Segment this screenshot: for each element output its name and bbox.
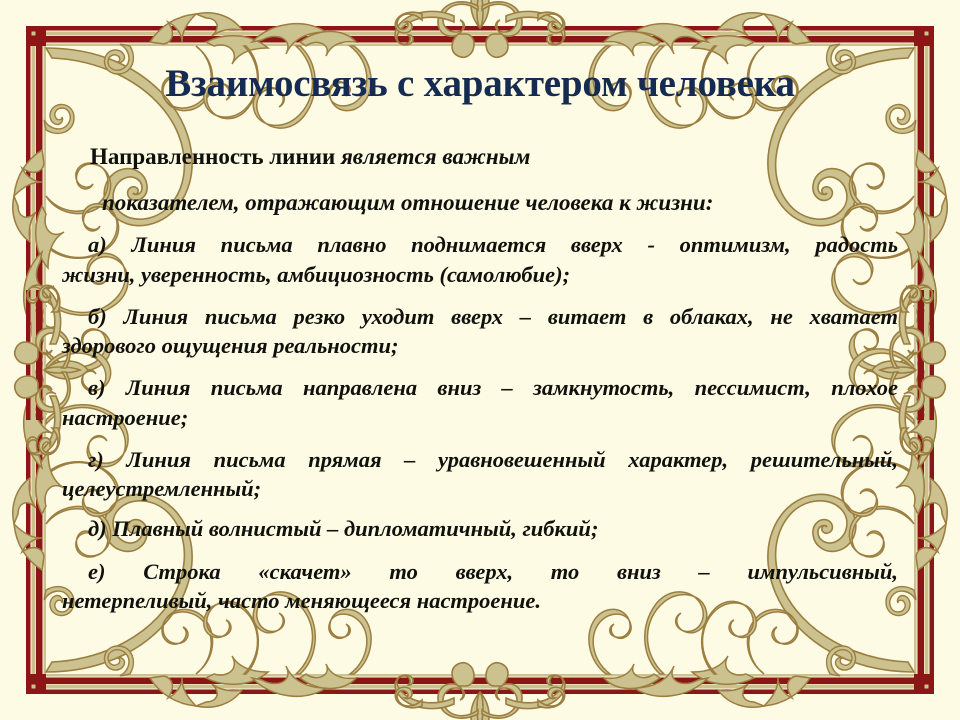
list-item-line: целеустремленный;: [62, 474, 898, 503]
slide: Взаимосвязь с характером человека Направ…: [0, 0, 960, 720]
list-item-line: г) Линия письма прямая – уравновешенный …: [62, 445, 898, 474]
list-item-line: здорового ощущения реальности;: [62, 331, 898, 360]
edge-ornament-bottom: [395, 663, 565, 720]
list-item-line: настроение;: [62, 403, 898, 432]
list-item: е) Строка «скачет» то вверх, то вниз – и…: [62, 557, 898, 616]
list-item: г) Линия письма прямая – уравновешенный …: [62, 445, 898, 504]
lead-line-2: показателем, отражающим отношение челове…: [62, 188, 898, 218]
list-item-line: в) Линия письма направлена вниз – замкну…: [62, 373, 898, 402]
list-item-line: нетерпеливый, часто меняющееся настроени…: [62, 586, 898, 615]
list-item: д) Плавный волнистый – дипломатичный, ги…: [62, 514, 898, 543]
list-item-line: б) Линия письма резко уходит вверх – вит…: [62, 302, 898, 331]
list-item-line: жизни, уверенность, амбициозность (самол…: [62, 260, 898, 289]
list-item: б) Линия письма резко уходит вверх – вит…: [62, 302, 898, 361]
page-title: Взаимосвязь с характером человека: [62, 62, 898, 106]
list-item: а) Линия письма плавно поднимается вверх…: [62, 230, 898, 289]
slide-content: Взаимосвязь с характером человека Направ…: [48, 62, 912, 658]
lead-bold-upright: Направленность линии: [90, 144, 341, 169]
list-item-line: д) Плавный волнистый – дипломатичный, ги…: [62, 514, 898, 543]
lead-bold-italic: является важным: [341, 144, 530, 169]
edge-ornament-top: [395, 0, 565, 57]
list-item-line: а) Линия письма плавно поднимается вверх…: [62, 230, 898, 259]
list-item-line: е) Строка «скачет» то вверх, то вниз – и…: [62, 557, 898, 586]
lead-line-1: Направленность линии является важным: [62, 142, 898, 172]
list-item: в) Линия письма направлена вниз – замкну…: [62, 373, 898, 432]
